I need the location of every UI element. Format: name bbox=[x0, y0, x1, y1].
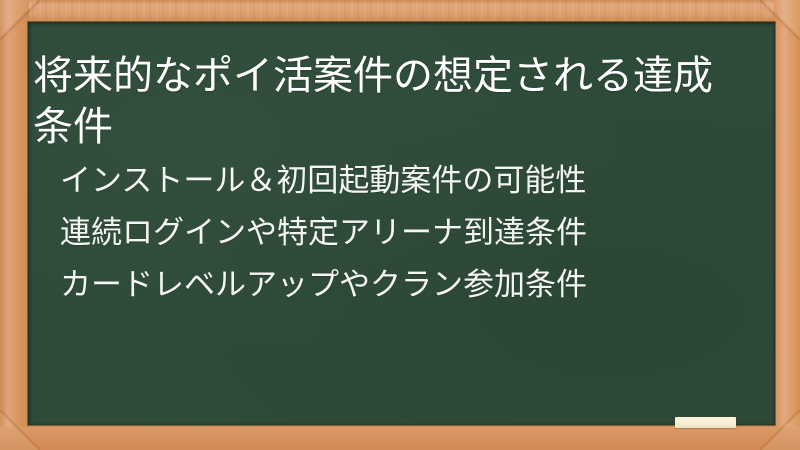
frame-rail-top bbox=[0, 0, 800, 23]
frame-ledge-bottom bbox=[0, 427, 800, 450]
bullet-list: インストール＆初回起動案件の可能性 連続ログインや特定アリーナ到達条件 カードレ… bbox=[60, 155, 750, 311]
chalkboard-content: 将来的なポイ活案件の想定される達成条件 インストール＆初回起動案件の可能性 連続… bbox=[28, 22, 775, 425]
frame-rail-left bbox=[0, 0, 29, 450]
frame-rail-right bbox=[774, 0, 800, 450]
slide-title: 将来的なポイ活案件の想定される達成条件 bbox=[33, 51, 739, 153]
chalk-stick bbox=[675, 417, 736, 428]
blackboard-slide: 将来的なポイ活案件の想定される達成条件 インストール＆初回起動案件の可能性 連続… bbox=[0, 0, 800, 450]
bullet-item-1: インストール＆初回起動案件の可能性 bbox=[60, 155, 750, 207]
bullet-item-2: 連続ログインや特定アリーナ到達条件 bbox=[60, 207, 750, 259]
chalkboard-surface: 将来的なポイ活案件の想定される達成条件 インストール＆初回起動案件の可能性 連続… bbox=[28, 22, 775, 425]
bullet-item-3: カードレベルアップやクラン参加条件 bbox=[60, 259, 750, 311]
